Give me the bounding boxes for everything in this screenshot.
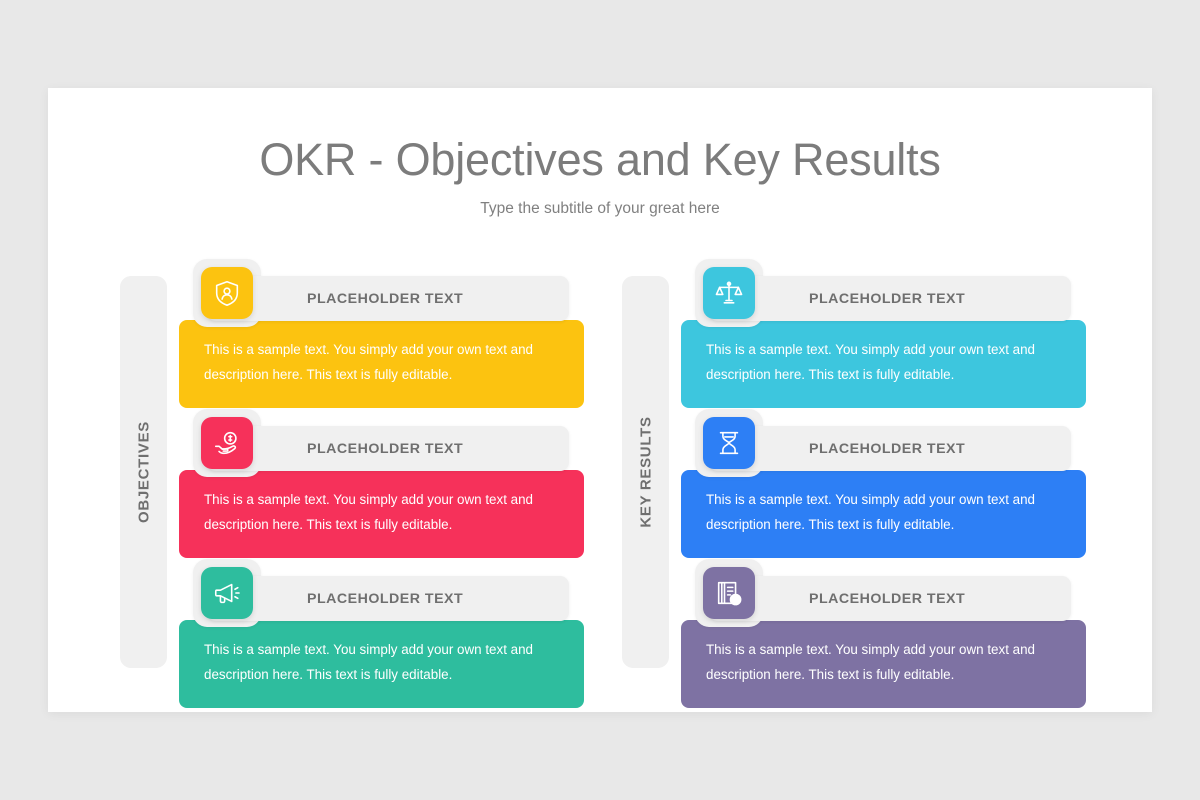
hourglass-icon xyxy=(714,428,744,458)
slide-canvas: OKR - Objectives and Key Results Type th… xyxy=(48,88,1152,712)
card-heading-bar: PLACEHOLDER TEXT xyxy=(709,426,1071,471)
icon-tile[interactable] xyxy=(201,267,253,319)
card-body: This is a sample text. You simply add yo… xyxy=(179,620,584,708)
section-tab-objectives: OBJECTIVES xyxy=(120,276,167,668)
icon-tile[interactable] xyxy=(703,567,755,619)
card-row[interactable]: This is a sample text. You simply add yo… xyxy=(179,576,590,696)
card-row[interactable]: This is a sample text. You simply add yo… xyxy=(681,426,1092,546)
card-body: This is a sample text. You simply add yo… xyxy=(179,470,584,558)
card-row[interactable]: This is a sample text. You simply add yo… xyxy=(681,576,1092,696)
card-heading-bar: PLACEHOLDER TEXT xyxy=(207,576,569,621)
section-tab-key-results: KEY RESULTS xyxy=(622,276,669,668)
section-tab-label: OBJECTIVES xyxy=(135,421,152,523)
page-title: OKR - Objectives and Key Results xyxy=(48,134,1152,186)
card-heading-label: PLACEHOLDER TEXT xyxy=(809,591,965,607)
card-body: This is a sample text. You simply add yo… xyxy=(681,320,1086,408)
card-body: This is a sample text. You simply add yo… xyxy=(179,320,584,408)
icon-tile[interactable] xyxy=(201,567,253,619)
card-description: This is a sample text. You simply add yo… xyxy=(204,337,554,387)
card-description: This is a sample text. You simply add yo… xyxy=(204,487,554,537)
card-body: This is a sample text. You simply add yo… xyxy=(681,620,1086,708)
card-heading-bar: PLACEHOLDER TEXT xyxy=(207,426,569,471)
card-description: This is a sample text. You simply add yo… xyxy=(706,337,1056,387)
card-row[interactable]: This is a sample text. You simply add yo… xyxy=(179,426,590,546)
report-info-icon xyxy=(714,578,744,608)
megaphone-icon xyxy=(212,578,242,608)
card-row[interactable]: This is a sample text. You simply add yo… xyxy=(681,276,1092,396)
card-heading-bar: PLACEHOLDER TEXT xyxy=(709,576,1071,621)
card-body: This is a sample text. You simply add yo… xyxy=(681,470,1086,558)
section-tab-label: KEY RESULTS xyxy=(637,416,654,527)
balance-scales-icon xyxy=(714,278,744,308)
card-heading-bar: PLACEHOLDER TEXT xyxy=(207,276,569,321)
card-heading-label: PLACEHOLDER TEXT xyxy=(307,441,463,457)
icon-tile[interactable] xyxy=(703,417,755,469)
card-row[interactable]: This is a sample text. You simply add yo… xyxy=(179,276,590,396)
page-subtitle: Type the subtitle of your great here xyxy=(48,200,1152,218)
column-key-results: KEY RESULTS This is a sample text. You s… xyxy=(622,276,1092,668)
icon-tile[interactable] xyxy=(201,417,253,469)
column-objectives: OBJECTIVES This is a sample text. You si… xyxy=(120,276,590,668)
shield-user-icon xyxy=(212,278,242,308)
card-heading-bar: PLACEHOLDER TEXT xyxy=(709,276,1071,321)
card-heading-label: PLACEHOLDER TEXT xyxy=(809,291,965,307)
card-heading-label: PLACEHOLDER TEXT xyxy=(307,591,463,607)
card-description: This is a sample text. You simply add yo… xyxy=(204,637,554,687)
card-description: This is a sample text. You simply add yo… xyxy=(706,637,1056,687)
card-description: This is a sample text. You simply add yo… xyxy=(706,487,1056,537)
icon-tile[interactable] xyxy=(703,267,755,319)
hand-money-icon xyxy=(212,428,242,458)
card-heading-label: PLACEHOLDER TEXT xyxy=(307,291,463,307)
card-heading-label: PLACEHOLDER TEXT xyxy=(809,441,965,457)
